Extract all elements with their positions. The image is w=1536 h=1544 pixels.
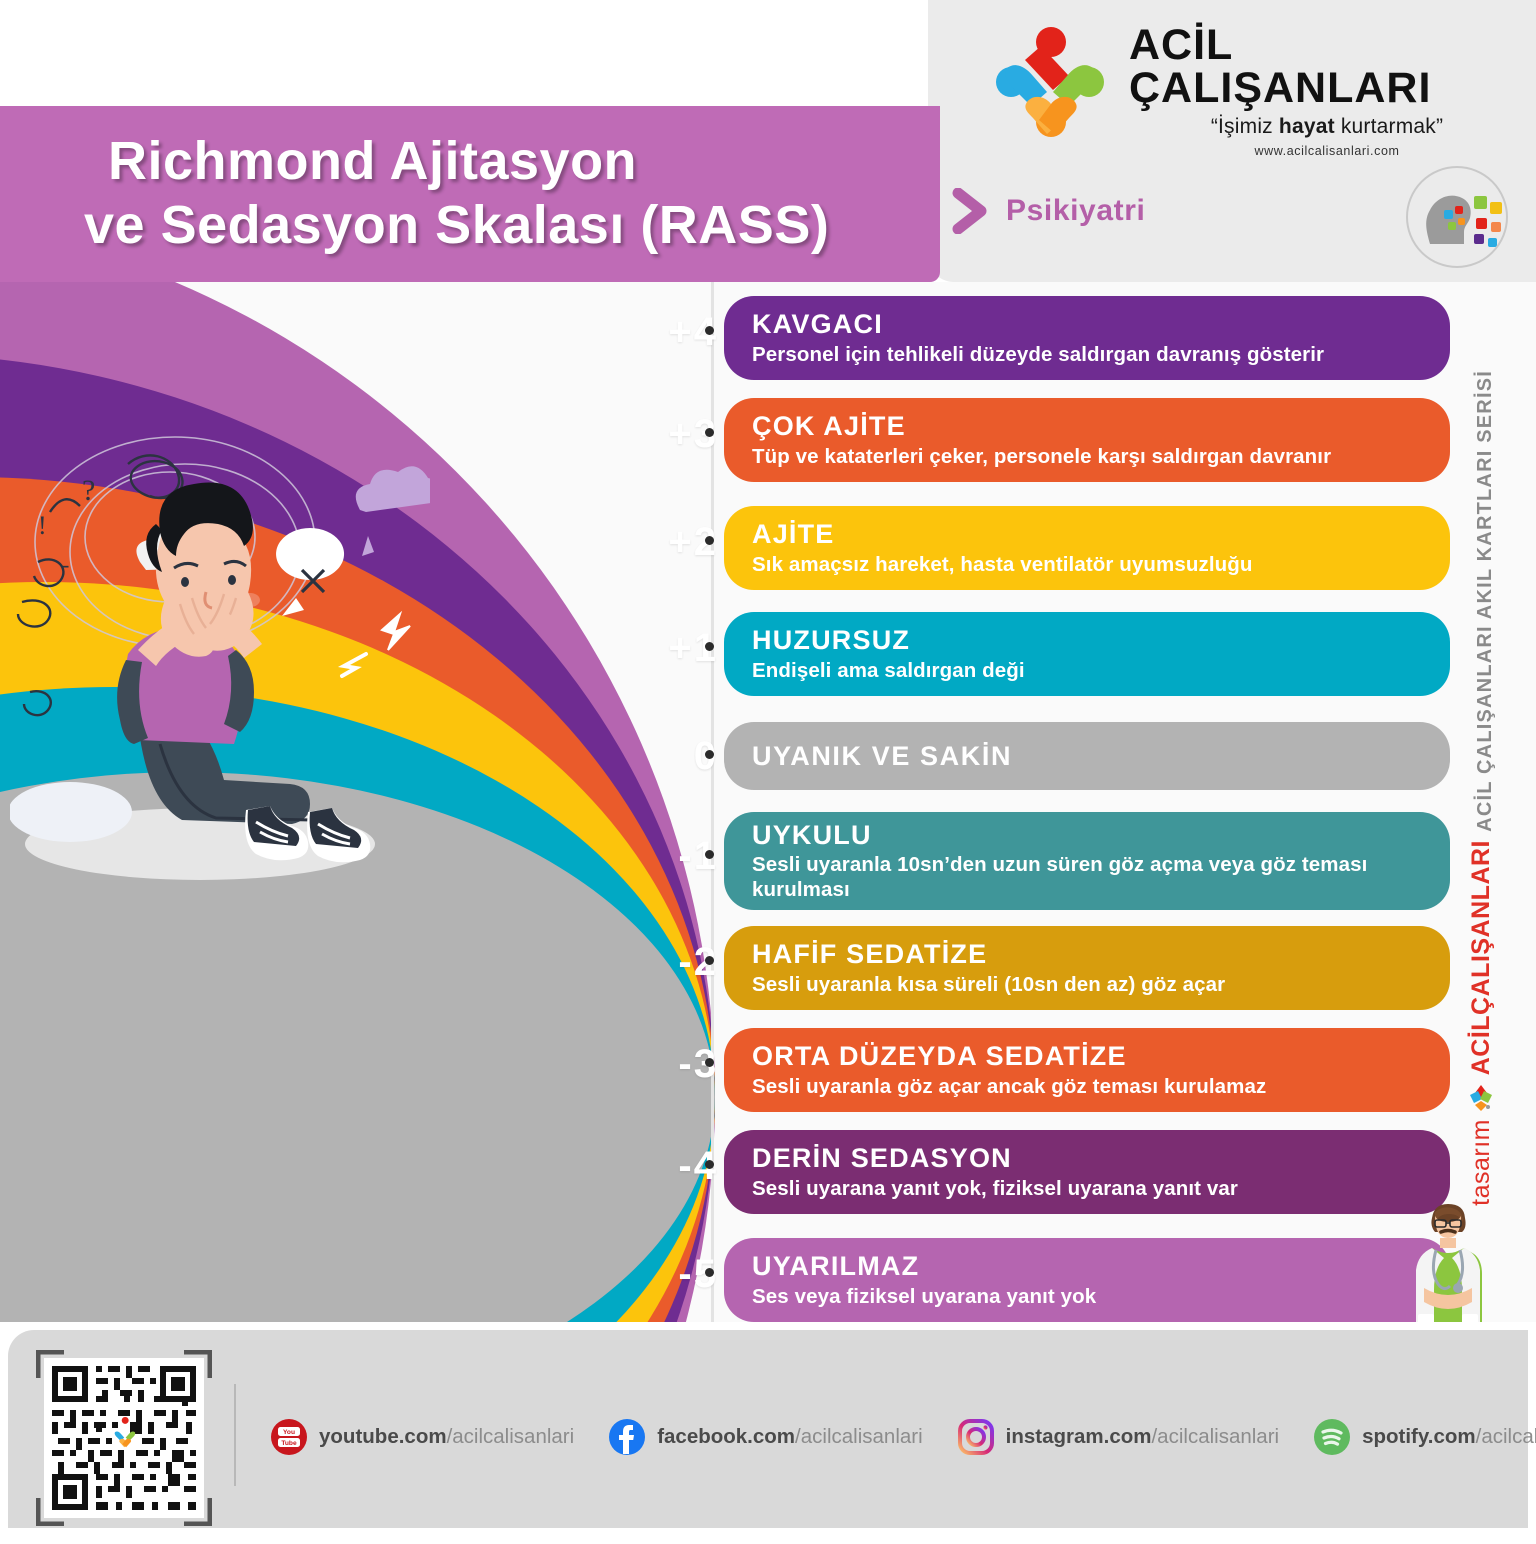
scale-number-minus2: -2: [622, 940, 718, 985]
rass-bar-minus4[interactable]: DERİN SEDASYON Sesli uyarana yanıt yok, …: [724, 1130, 1450, 1214]
rass-bar-desc: Sık amaçsız hareket, hasta ventilatör uy…: [752, 552, 1450, 577]
footer-panel: You Tube youtube.com/acilcalisanlari fac…: [8, 1330, 1528, 1528]
scale-dot-plus2: [705, 536, 714, 545]
social-link-text: instagram.com/acilcalisanlari: [1006, 1425, 1279, 1449]
rass-bar-plus2[interactable]: AJİTE Sık amaçsız hareket, hasta ventila…: [724, 506, 1450, 590]
page-header: Richmond Ajitasyon ve Sedasyon Skalası (…: [0, 0, 1536, 290]
scale-dot-minus3: [705, 1058, 714, 1067]
slogan-pre: “İşimiz: [1211, 115, 1279, 138]
social-link-youtube[interactable]: You Tube youtube.com/acilcalisanlari: [270, 1418, 574, 1456]
scale-dot-minus5: [705, 1268, 714, 1277]
social-handle: /acilcalisanlari: [1151, 1425, 1279, 1448]
page-title-line-2: ve Sedasyon Skalası (RASS): [84, 194, 940, 258]
social-links-row: You Tube youtube.com/acilcalisanlari fac…: [270, 1330, 1390, 1544]
scale-number-minus1: -1: [622, 834, 718, 879]
scale-number-plus2: +2: [622, 520, 718, 565]
social-domain: youtube.com: [319, 1425, 447, 1448]
scale-number-plus1: +1: [622, 626, 718, 671]
facebook-icon: [608, 1418, 646, 1456]
rass-arc-graphic: ? ! -: [0, 282, 716, 1322]
svg-text:-: -: [62, 552, 69, 577]
social-handle: /acilcalisanlari: [1476, 1425, 1536, 1448]
social-link-facebook[interactable]: facebook.com/acilcalisanlari: [608, 1418, 922, 1456]
scale-number-minus4: -4: [622, 1144, 718, 1189]
rass-bar-plus4[interactable]: KAVGACI Personel için tehlikeli düzeyde …: [724, 296, 1450, 380]
acil-mini-logo-icon: [1466, 1083, 1496, 1113]
brand-slogan: “İşimiz hayat kurtarmak”: [1211, 115, 1443, 139]
brand-website-url: www.acilcalisanlari.com: [1254, 144, 1399, 158]
rass-bar-title: ÇOK AJİTE: [752, 411, 1450, 441]
rass-bar-title: AJİTE: [752, 519, 1450, 549]
designer-brand-label: ACİLÇALIŞANLARI: [1467, 840, 1496, 1075]
anxious-person-illustration: ? ! -: [10, 392, 430, 892]
category-label: Psikiyatri: [1006, 194, 1145, 228]
rass-bar-plus1[interactable]: HUZURSUZ Endişeli ama saldırgan deği: [724, 612, 1450, 696]
rass-bar-title: HAFİF SEDATİZE: [752, 939, 1450, 969]
scale-dot-plus4: [705, 326, 714, 335]
scale-number-plus3: +3: [622, 412, 718, 457]
rass-bar-desc: Sesli uyaranla 10sn’den uzun süren göz a…: [752, 852, 1450, 902]
social-handle: /acilcalisanlari: [795, 1425, 923, 1448]
rass-bar-desc: Sesli uyaranla kısa süreli (10sn den az)…: [752, 972, 1450, 997]
rass-bar-desc: Tüp ve kataterleri çeker, personele karş…: [752, 444, 1450, 469]
social-link-text: youtube.com/acilcalisanlari: [319, 1425, 574, 1449]
rass-bar-desc: Endişeli ama saldırgan deği: [752, 658, 1450, 683]
scale-number-plus4: +4: [622, 310, 718, 355]
slogan-post: kurtarmak”: [1335, 115, 1443, 138]
scale-dot-plus1: [705, 642, 714, 651]
instagram-icon: [957, 1418, 995, 1456]
rass-bar-title: UYKULU: [752, 820, 1450, 850]
youtube-icon: You Tube: [270, 1418, 308, 1456]
scale-dot-zero: [705, 750, 714, 759]
rass-bar-title: UYANIK VE SAKİN: [752, 741, 1450, 771]
spotify-icon: [1313, 1418, 1351, 1456]
scale-number-minus5: -5: [622, 1252, 718, 1297]
page-title-line-1: Richmond Ajitasyon: [108, 130, 940, 194]
scale-dot-minus4: [705, 1160, 714, 1169]
social-link-spotify[interactable]: spotify.com/acilcalisanlari: [1313, 1418, 1536, 1456]
social-domain: spotify.com: [1362, 1425, 1476, 1448]
slogan-bold: hayat: [1279, 115, 1335, 138]
social-handle: /acilcalisanlari: [447, 1425, 575, 1448]
qr-code[interactable]: [36, 1350, 212, 1526]
rass-bar-title: DERİN SEDASYON: [752, 1143, 1450, 1173]
right-sidebar: ACİL ÇALIŞANLARI AKIL KARTLARI SERİSİ AC…: [1452, 282, 1536, 1322]
designer-prefix-label: tasarım: [1467, 1119, 1496, 1206]
scale-dot-minus2: [705, 956, 714, 965]
rass-bar-title: KAVGACI: [752, 309, 1450, 339]
main-content: ? ! -: [0, 282, 1536, 1322]
rass-bar-desc: Ses veya fiziksel uyarana yanıt yok: [752, 1284, 1450, 1309]
title-banner: Richmond Ajitasyon ve Sedasyon Skalası (…: [0, 106, 940, 282]
scale-number-zero: 0: [622, 734, 718, 779]
svg-text:?: ?: [82, 474, 95, 507]
scale-dot-minus1: [705, 850, 714, 859]
acil-calisanlari-logo-icon: [985, 24, 1113, 152]
psychiatry-head-icon: [1406, 166, 1508, 268]
social-domain: facebook.com: [657, 1425, 795, 1448]
designer-brand-bold: ACİL: [1467, 1015, 1495, 1075]
designer-credit: ACİLÇALIŞANLARI tasarım: [1466, 840, 1496, 1206]
brand-logo: ACİL ÇALIŞANLARI “İşimiz hayat kurtarmak…: [985, 18, 1525, 158]
scale-number-minus3: -3: [622, 1042, 718, 1087]
rass-bar-title: HUZURSUZ: [752, 625, 1450, 655]
social-domain: instagram.com: [1006, 1425, 1152, 1448]
rass-bar-plus3[interactable]: ÇOK AJİTE Tüp ve kataterleri çeker, pers…: [724, 398, 1450, 482]
rass-bar-zero[interactable]: UYANIK VE SAKİN: [724, 722, 1450, 790]
designer-brand-rest: ÇALIŞANLARI: [1467, 840, 1495, 1015]
rass-bar-minus3[interactable]: ORTA DÜZEYDA SEDATİZE Sesli uyaranla göz…: [724, 1028, 1450, 1112]
chevron-right-icon: [952, 188, 988, 234]
footer-divider: [234, 1384, 236, 1486]
social-link-instagram[interactable]: instagram.com/acilcalisanlari: [957, 1418, 1279, 1456]
category-row: Psikiyatri: [952, 188, 1145, 234]
brand-name: ACİL ÇALIŞANLARI: [1129, 24, 1525, 110]
svg-text:Tube: Tube: [281, 1440, 297, 1447]
rass-bar-title: UYARILMAZ: [752, 1251, 1450, 1281]
rass-bar-minus2[interactable]: HAFİF SEDATİZE Sesli uyaranla kısa sürel…: [724, 926, 1450, 1010]
series-label: ACİL ÇALIŞANLARI AKIL KARTLARI SERİSİ: [1474, 370, 1497, 832]
svg-text:You: You: [283, 1429, 295, 1436]
rass-bar-desc: Sesli uyarana yanıt yok, fiziksel uyaran…: [752, 1176, 1450, 1201]
social-link-text: facebook.com/acilcalisanlari: [657, 1425, 922, 1449]
brand-text-block: ACİL ÇALIŞANLARI “İşimiz hayat kurtarmak…: [1129, 18, 1525, 158]
social-link-text: spotify.com/acilcalisanlari: [1362, 1425, 1536, 1449]
page-footer: You Tube youtube.com/acilcalisanlari fac…: [0, 1322, 1536, 1536]
rass-bar-desc: Sesli uyaranla göz açar ancak göz teması…: [752, 1074, 1450, 1099]
svg-text:!: !: [38, 511, 47, 540]
rass-bar-title: ORTA DÜZEYDA SEDATİZE: [752, 1041, 1450, 1071]
rass-bar-desc: Personel için tehlikeli düzeyde saldırga…: [752, 342, 1450, 367]
rass-bar-minus1[interactable]: UYKULU Sesli uyaranla 10sn’den uzun süre…: [724, 812, 1450, 910]
scale-dot-plus3: [705, 428, 714, 437]
rass-bar-minus5[interactable]: UYARILMAZ Ses veya fiziksel uyarana yanı…: [724, 1238, 1450, 1322]
